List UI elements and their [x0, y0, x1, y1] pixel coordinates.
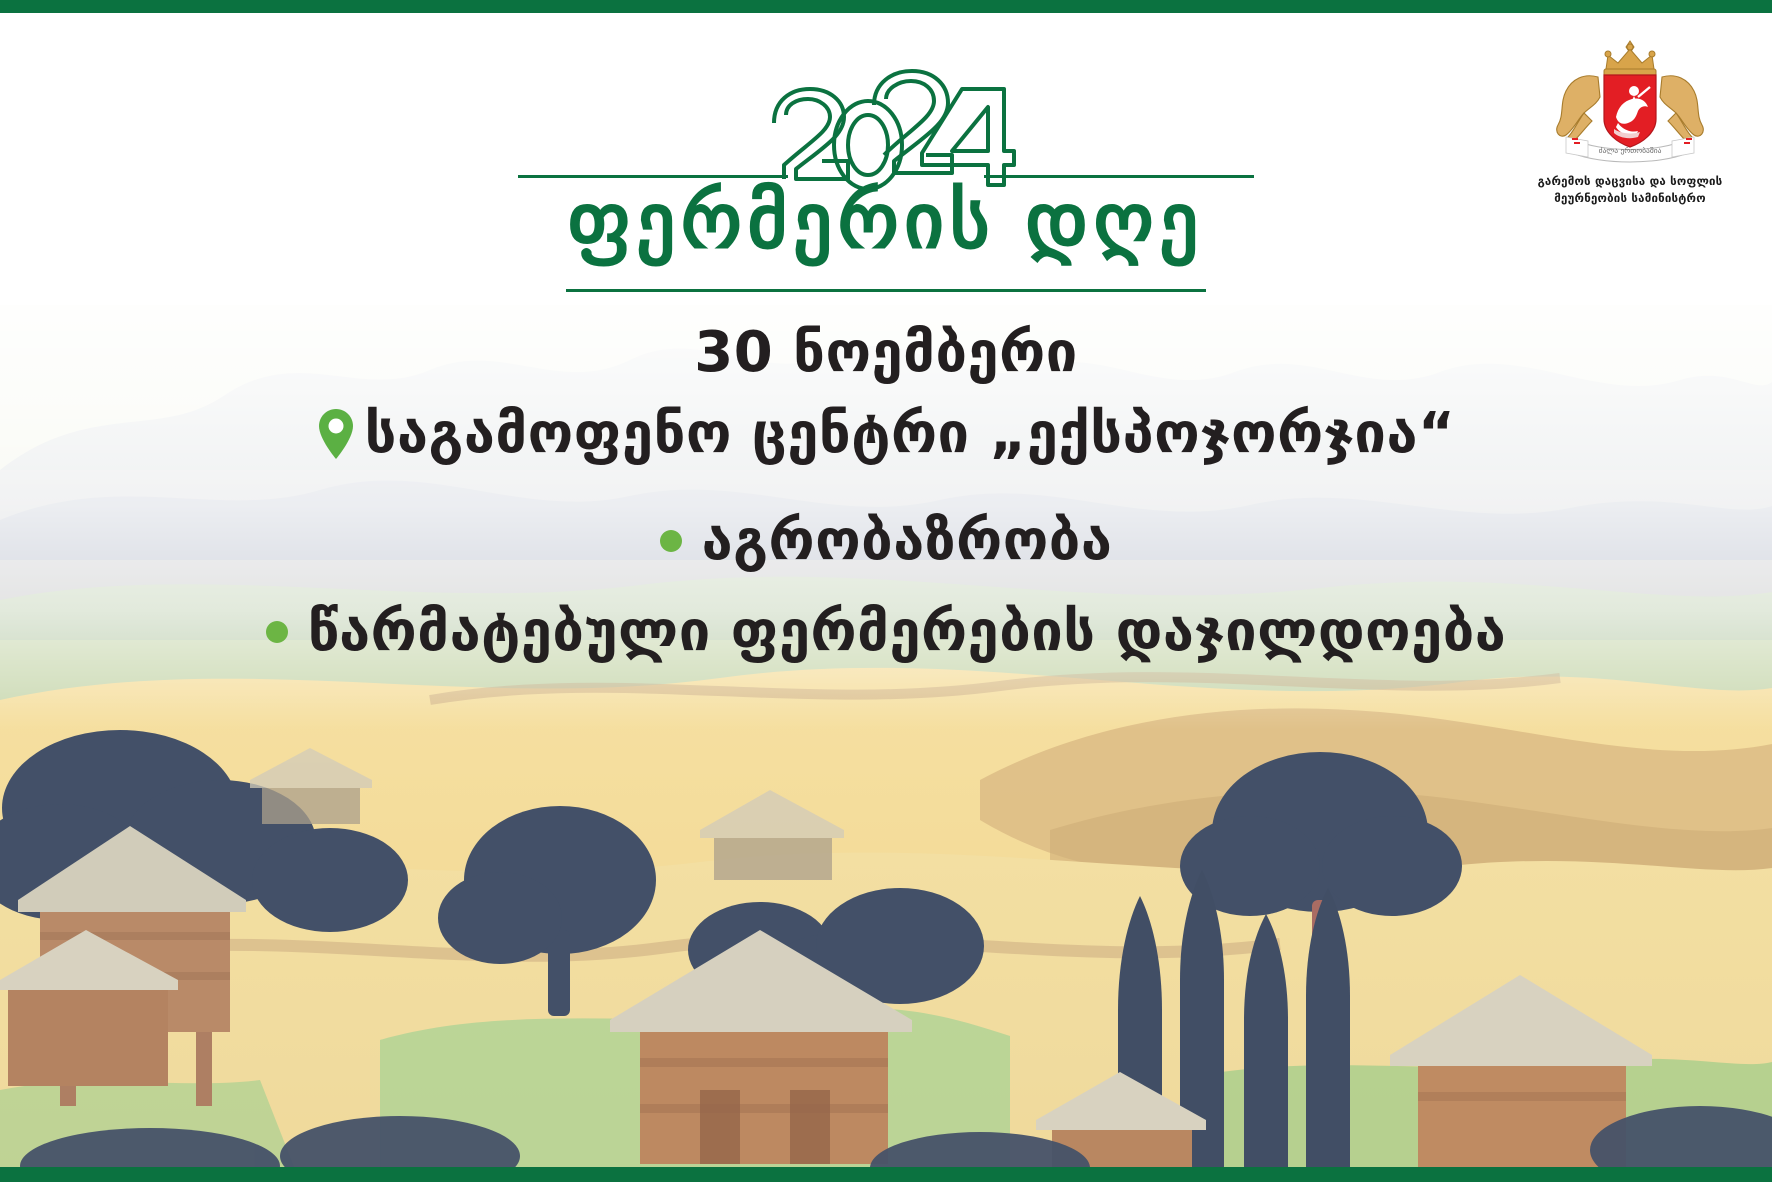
- top-accent-bar: [0, 0, 1772, 13]
- list-item: აგრობაზრობა: [0, 508, 1772, 573]
- event-venue-row: საგამოფენო ცენტრი „ექსპოჯორჯია“: [0, 401, 1772, 466]
- poster-canvas: ფერმერის დღე: [0, 0, 1772, 1182]
- logo-underline: [566, 289, 1206, 292]
- bottom-accent-bar: [0, 1167, 1772, 1182]
- georgia-coat-of-arms-icon: ძალა ერთობაშია: [1544, 35, 1716, 167]
- ministry-caption-line1: გარემოს დაცვისა და სოფლის: [1520, 173, 1740, 190]
- bullet-dot-icon: [266, 621, 288, 643]
- ministry-caption: გარემოს დაცვისა და სოფლის მეურნეობის სამ…: [1520, 173, 1740, 206]
- event-program-list: აგრობაზრობა წარმატებული ფერმერების დაჯილ…: [0, 508, 1772, 664]
- list-item: წარმატებული ფერმერების დაჯილდოება: [0, 599, 1772, 664]
- event-details: 30 ნოემბერი საგამოფენო ცენტრი „ექსპოჯორჯ…: [0, 320, 1772, 664]
- ministry-caption-line2: მეურნეობის სამინისტრო: [1520, 190, 1740, 207]
- program-item-label: აგრობაზრობა: [702, 508, 1113, 573]
- bullet-dot-icon: [660, 530, 682, 552]
- program-item-label: წარმატებული ფერმერების დაჯილდოება: [308, 599, 1507, 664]
- event-logo-lockup: ფერმერის დღე: [506, 61, 1266, 301]
- shield-motto-text: ძალა ერთობაშია: [1599, 146, 1662, 155]
- year-2024-logo: [756, 61, 1016, 193]
- event-venue-label: საგამოფენო ცენტრი „ექსპოჯორჯია“: [365, 401, 1456, 466]
- ministry-emblem-block: ძალა ერთობაშია გარემოს დაცვისა და სოფლის…: [1520, 35, 1740, 206]
- header-band: ფერმერის დღე: [0, 13, 1772, 305]
- event-date: 30 ნოემბერი: [0, 320, 1772, 385]
- location-pin-icon: [317, 408, 355, 460]
